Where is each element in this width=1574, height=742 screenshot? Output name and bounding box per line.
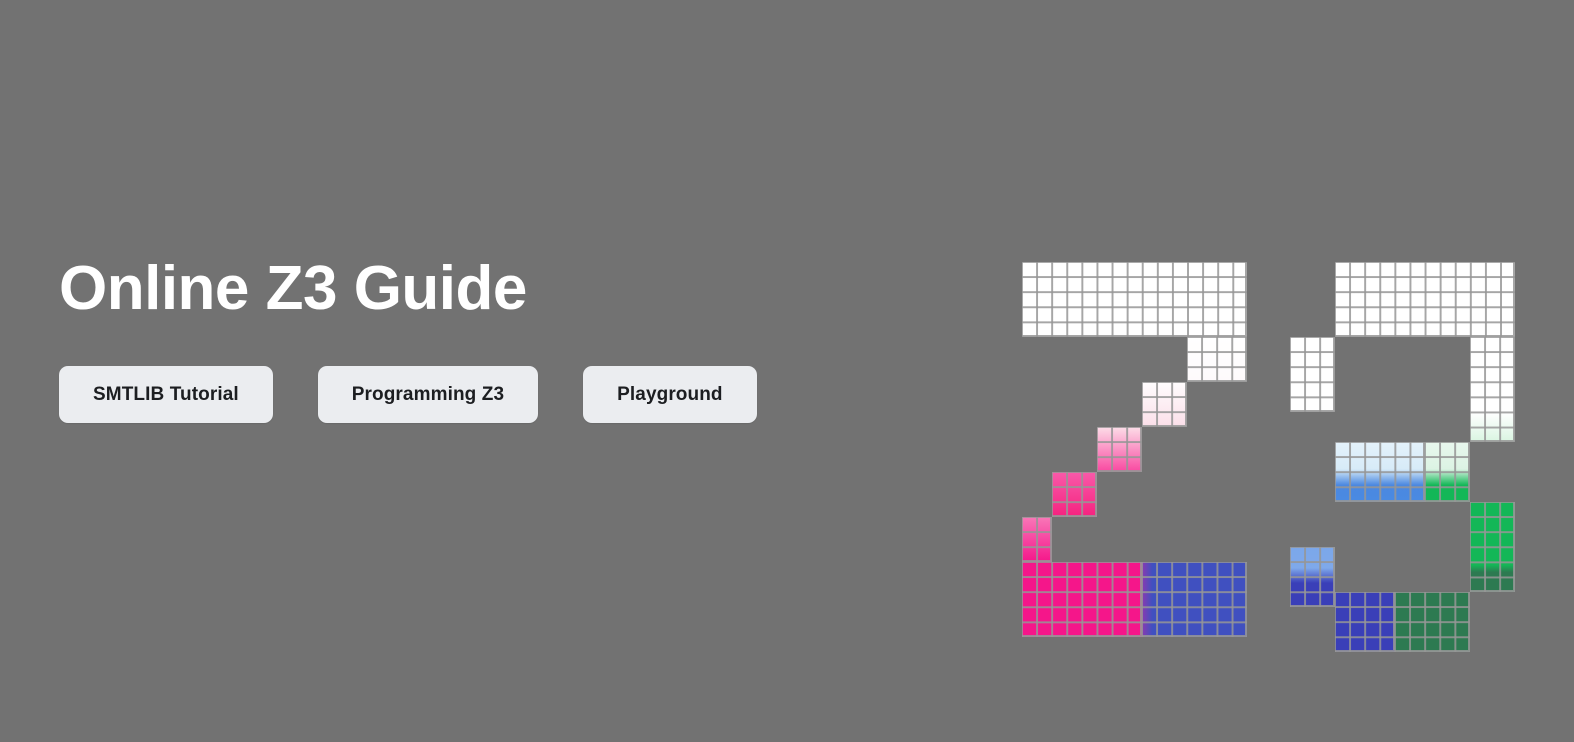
three-mid-bar-green — [1425, 442, 1470, 502]
logo-glyph-z — [1022, 262, 1248, 584]
z3-logo — [1022, 262, 1518, 584]
hero-text-column: Online Z3 Guide — [59, 258, 959, 320]
hero-section: Online Z3 Guide SMTLIB Tutorial Programm… — [0, 0, 1574, 742]
three-top-bar — [1335, 262, 1515, 337]
z-step-1 — [1187, 337, 1247, 382]
three-lower-arm — [1470, 502, 1515, 592]
z-step-4 — [1052, 472, 1097, 517]
z-bottom-blue — [1142, 562, 1247, 637]
playground-button[interactable]: Playground — [583, 366, 757, 423]
page-title: Online Z3 Guide — [59, 258, 959, 320]
z-step-2 — [1142, 382, 1187, 427]
z-top-bar — [1022, 262, 1247, 337]
programming-z3-button[interactable]: Programming Z3 — [318, 366, 538, 423]
smtlib-tutorial-button[interactable]: SMTLIB Tutorial — [59, 366, 273, 423]
logo-glyph-three — [1290, 262, 1518, 584]
three-mid-bar-blue — [1335, 442, 1425, 502]
three-right-arm — [1470, 337, 1515, 442]
z-bottom-pink — [1022, 562, 1142, 637]
three-left-stub — [1290, 337, 1335, 412]
z-step-5 — [1022, 517, 1052, 562]
three-bottom-green — [1395, 592, 1470, 652]
three-bottom-blue — [1335, 592, 1395, 652]
z-step-3 — [1097, 427, 1142, 472]
three-left-foot — [1290, 547, 1335, 607]
cta-button-row: SMTLIB Tutorial Programming Z3 Playgroun… — [59, 366, 757, 423]
